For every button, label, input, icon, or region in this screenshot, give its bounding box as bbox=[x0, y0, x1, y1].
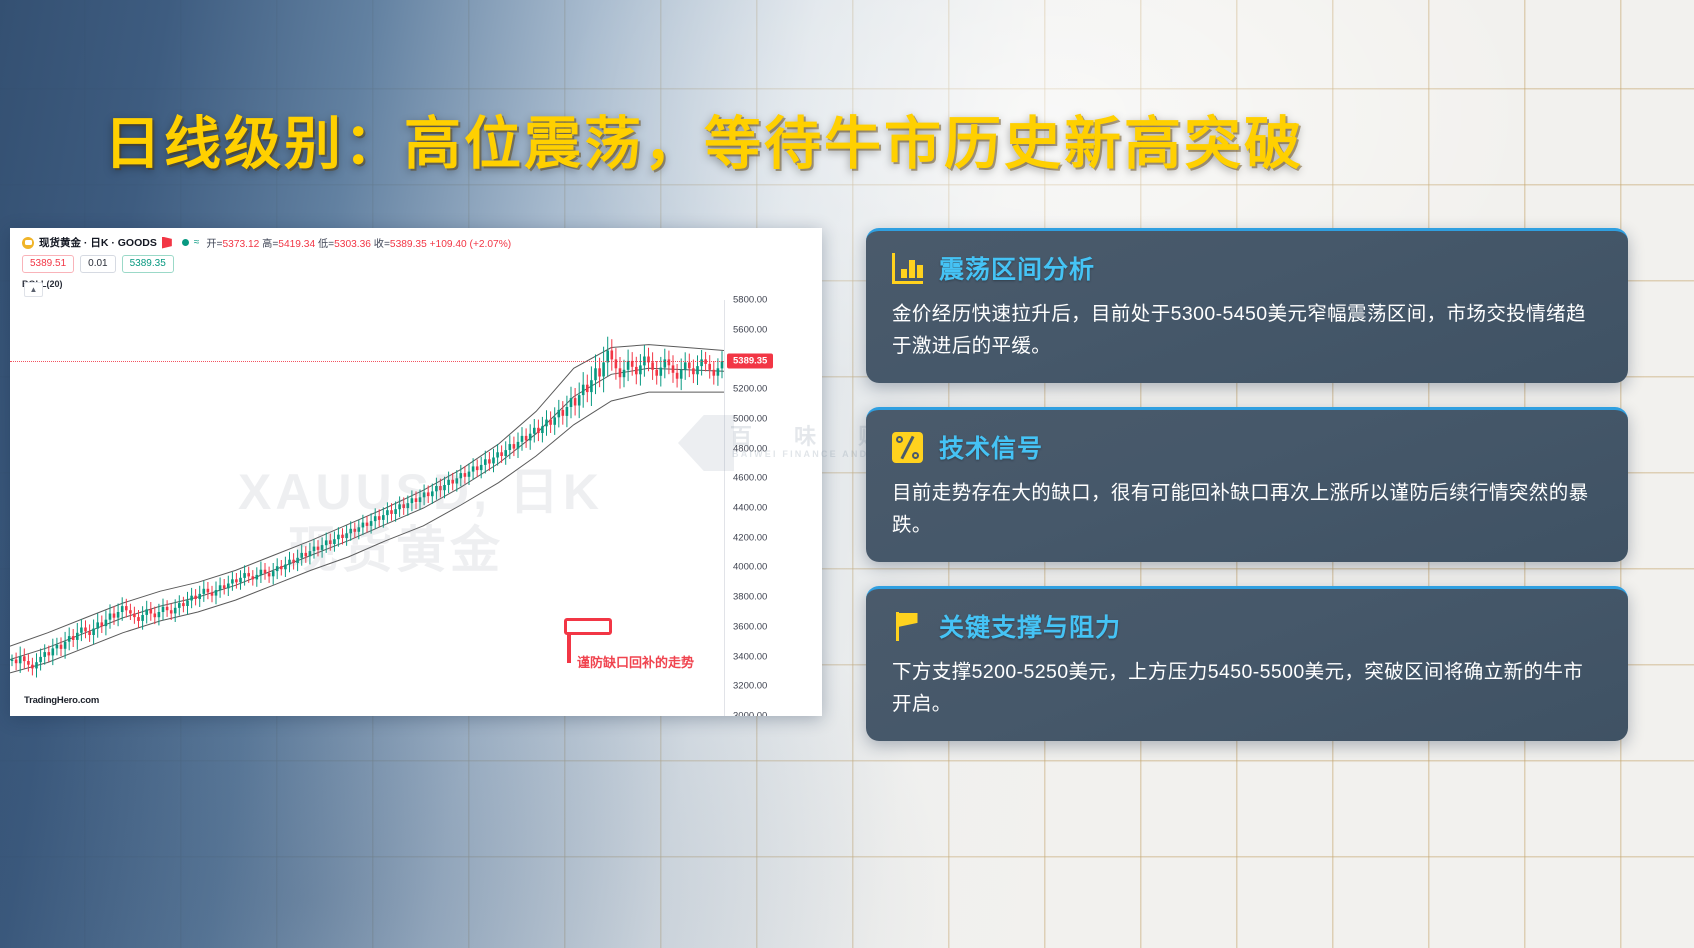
price-axis[interactable]: 5800.005600.005400.005200.005000.004800.… bbox=[724, 300, 822, 716]
price-tick: 3800.00 bbox=[733, 592, 767, 603]
card-title: 技术信号 bbox=[939, 429, 1043, 465]
price-tick: 4000.00 bbox=[733, 562, 767, 573]
low-value: 5303.36 bbox=[334, 239, 371, 250]
bollinger-bands bbox=[10, 345, 724, 673]
open-label: 开= bbox=[206, 239, 222, 250]
price-tick: 4600.00 bbox=[733, 473, 767, 484]
percent-icon bbox=[892, 432, 923, 463]
high-value: 5419.34 bbox=[278, 239, 315, 250]
insight-card-range-analysis[interactable]: 震荡区间分析 金价经历快速拉升后，目前处于5300-5450美元窄幅震荡区间，市… bbox=[866, 228, 1628, 383]
chart-symbol-row: 现货黄金 · 日K · GOODS ≈ 开=5373.12 高=5419.34 … bbox=[22, 235, 822, 250]
low-label: 低= bbox=[318, 239, 334, 250]
candle-group bbox=[11, 337, 724, 678]
price-tick: 5000.00 bbox=[733, 413, 767, 424]
price-tick: 5800.00 bbox=[733, 295, 767, 306]
open-value: 5373.12 bbox=[222, 239, 259, 250]
ohlc-readout: 开=5373.12 高=5419.34 低=5303.36 收=5389.35 … bbox=[206, 235, 511, 250]
card-body: 目前走势存在大的缺口，很有可能回补缺口再次上涨所以谨防后续行情突然的暴跌。 bbox=[892, 478, 1602, 541]
card-title: 震荡区间分析 bbox=[939, 250, 1095, 286]
insight-card-list: 震荡区间分析 金价经历快速拉升后，目前处于5300-5450美元窄幅震荡区间，市… bbox=[866, 228, 1628, 765]
current-price-badge: 5389.35 bbox=[727, 354, 773, 369]
chevron-up-icon[interactable]: ▲ bbox=[24, 282, 43, 297]
price-tick: 3000.00 bbox=[733, 711, 767, 717]
spread-pill[interactable]: 0.01 bbox=[80, 255, 115, 273]
bar-chart-icon bbox=[892, 253, 923, 284]
card-header: 震荡区间分析 bbox=[892, 250, 1602, 286]
price-tick: 3600.00 bbox=[733, 621, 767, 632]
high-label: 高= bbox=[262, 239, 278, 250]
chart-panel[interactable]: 现货黄金 · 日K · GOODS ≈ 开=5373.12 高=5419.34 … bbox=[10, 228, 822, 716]
card-header: 技术信号 bbox=[892, 429, 1602, 465]
price-tick: 4200.00 bbox=[733, 532, 767, 543]
wave-icon: ≈ bbox=[194, 237, 200, 248]
price-tick: 3200.00 bbox=[733, 681, 767, 692]
close-value: 5389.35 bbox=[390, 239, 427, 250]
indicator-label: BOLL(20) bbox=[22, 279, 822, 289]
logo-name: TradingHero bbox=[24, 695, 78, 706]
chart-plot-area[interactable]: XAUUSD, 日K 现货黄金 谨防缺口回补的走势 bbox=[10, 300, 724, 716]
price-tick: 4800.00 bbox=[733, 443, 767, 454]
status-dot-icon bbox=[182, 239, 189, 246]
quote-pill-row: 5389.51 0.01 5389.35 bbox=[22, 255, 822, 273]
gold-symbol-icon bbox=[22, 237, 34, 249]
card-header: 关键支撑与阻力 bbox=[892, 608, 1602, 644]
price-tick: 5200.00 bbox=[733, 384, 767, 395]
flag-icon bbox=[892, 611, 923, 642]
tradinghero-logo: TradingHero.com bbox=[24, 691, 99, 706]
gap-annotation-stem bbox=[567, 635, 571, 663]
insight-card-support-resistance[interactable]: 关键支撑与阻力 下方支撑5200-5250美元，上方压力5450-5500美元，… bbox=[866, 586, 1628, 741]
current-price-line bbox=[10, 361, 724, 362]
card-body: 金价经历快速拉升后，目前处于5300-5450美元窄幅震荡区间，市场交投情绪趋于… bbox=[892, 299, 1602, 362]
gap-annotation-text: 谨防缺口回补的走势 bbox=[577, 652, 694, 671]
close-label: 收= bbox=[374, 239, 390, 250]
chart-symbol-label: 现货黄金 · 日K · GOODS bbox=[39, 235, 157, 250]
candle-style-icon bbox=[162, 237, 172, 249]
change-value: +109.40 bbox=[430, 239, 467, 250]
page-title: 日线级别：高位震荡，等待牛市历史新高突破 bbox=[104, 98, 1304, 180]
card-title: 关键支撑与阻力 bbox=[939, 608, 1121, 644]
price-tick: 3400.00 bbox=[733, 651, 767, 662]
logo-suffix: .com bbox=[78, 695, 99, 706]
title-bar: 日线级别：高位震荡，等待牛市历史新高突破 bbox=[0, 96, 1400, 182]
change-percent: (+2.07%) bbox=[470, 239, 512, 250]
ask-price-pill[interactable]: 5389.51 bbox=[22, 255, 74, 273]
chart-header: 现货黄金 · 日K · GOODS ≈ 开=5373.12 高=5419.34 … bbox=[10, 228, 822, 282]
gap-annotation-box bbox=[564, 618, 612, 635]
price-tick: 5600.00 bbox=[733, 324, 767, 335]
insight-card-technical-signal[interactable]: 技术信号 目前走势存在大的缺口，很有可能回补缺口再次上涨所以谨防后续行情突然的暴… bbox=[866, 407, 1628, 562]
price-tick: 4400.00 bbox=[733, 503, 767, 514]
bid-price-pill[interactable]: 5389.35 bbox=[122, 255, 174, 273]
card-body: 下方支撑5200-5250美元，上方压力5450-5500美元，突破区间将确立新… bbox=[892, 657, 1602, 720]
